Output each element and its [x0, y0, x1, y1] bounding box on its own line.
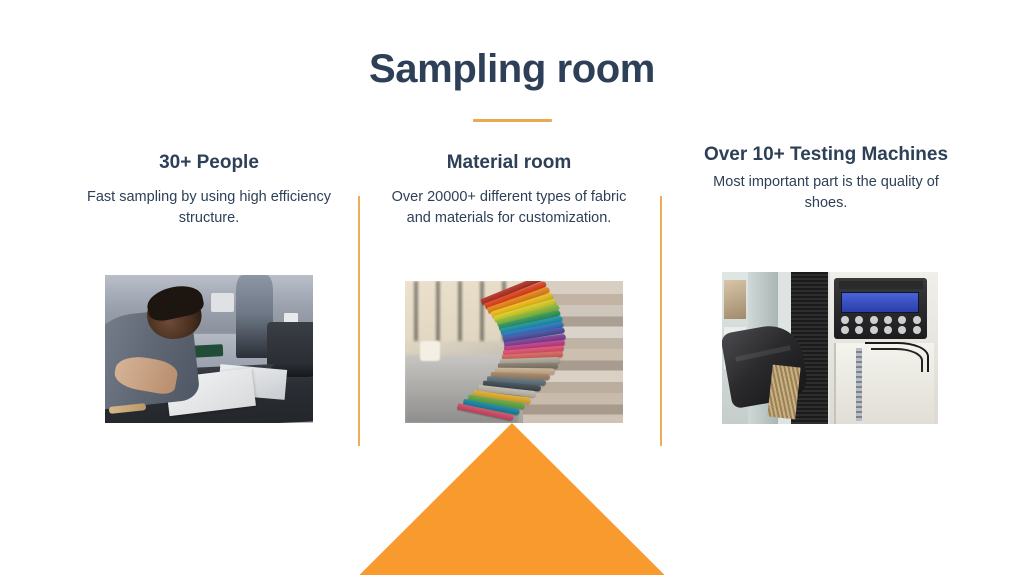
machine-keypad-button	[913, 326, 921, 334]
orange-triangle-pointer	[0, 423, 1024, 575]
column-material: Material room Over 20000+ different type…	[378, 150, 640, 229]
column-material-heading: Material room	[378, 150, 640, 176]
machine-keypad-button	[855, 326, 863, 334]
column-testing-body: Most important part is the quality of sh…	[700, 172, 952, 214]
machine-keypad-button	[884, 326, 892, 334]
title-underline-rule	[473, 119, 552, 122]
machine-keypad-button	[898, 316, 906, 324]
photo-testing-machine	[722, 272, 938, 424]
page-title: Sampling room	[0, 48, 1024, 90]
title-block: Sampling room	[0, 48, 1024, 90]
column-people-heading: 30+ People	[78, 150, 340, 176]
machine-keypad-button	[841, 316, 849, 324]
photo-material-swatches-art	[405, 281, 623, 423]
machine-keypad-button	[870, 326, 878, 334]
column-divider-left	[358, 196, 360, 446]
column-testing: Over 10+ Testing Machines Most important…	[700, 142, 952, 214]
column-testing-heading: Over 10+ Testing Machines	[700, 142, 952, 168]
machine-keypad-button	[841, 326, 849, 334]
photo-sampling-worker-art	[105, 275, 313, 423]
machine-keypad-button	[870, 316, 878, 324]
machine-keypad-button	[884, 316, 892, 324]
photo-testing-machine-art	[722, 272, 938, 424]
machine-keypad-button	[913, 316, 921, 324]
photo-sampling-worker	[105, 275, 313, 423]
slide-canvas: Sampling room 30+ People Fast sampling b…	[0, 0, 1024, 575]
column-divider-right	[660, 196, 662, 446]
column-material-body: Over 20000+ different types of fabric an…	[378, 187, 640, 229]
column-people-body: Fast sampling by using high efficiency s…	[78, 187, 340, 229]
column-people: 30+ People Fast sampling by using high e…	[78, 150, 340, 229]
machine-keypad-button	[898, 326, 906, 334]
machine-keypad-button	[855, 316, 863, 324]
photo-material-swatches	[405, 281, 623, 423]
